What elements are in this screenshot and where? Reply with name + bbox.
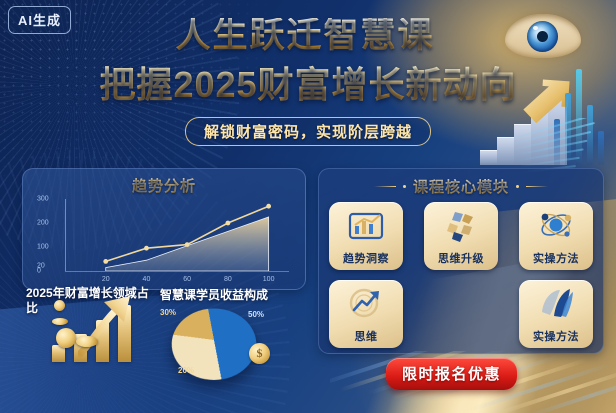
y-axis-line <box>65 199 66 271</box>
trend-analysis-card: 趋势分析 020100200300 20406080100 <box>22 168 306 290</box>
divider-left <box>374 186 396 188</box>
tagline: 解锁财富密码，实现阶层跨越 <box>185 117 431 146</box>
pie-label-0: 50% <box>248 310 264 319</box>
module-card-1[interactable]: 趋势洞察 <box>329 202 403 270</box>
earnings-composition-label: 智慧课学员收益构成 <box>160 286 268 303</box>
gold-coin-single-icon <box>52 318 68 325</box>
bar-chart-icon <box>329 208 403 242</box>
pie-label-1: 30% <box>160 308 176 317</box>
y-tick: 200 <box>37 220 49 227</box>
trend-line-svg <box>65 199 289 271</box>
x-tick: 40 <box>143 276 151 283</box>
module-grid: 趋势洞察思维升级实操方法思维实操方法 <box>329 202 593 344</box>
module-label: 思维 <box>355 328 378 344</box>
puzzle-shapes-icon <box>424 208 498 242</box>
y-tick: 300 <box>37 196 49 203</box>
x-tick: 60 <box>183 276 191 283</box>
gold-coin-float-icon <box>54 300 65 311</box>
cta-badge[interactable]: 限时报名优惠 <box>386 358 517 390</box>
trend-card-title: 趋势分析 <box>23 169 305 196</box>
dollar-coin-icon: $ <box>249 343 270 364</box>
module-card-4[interactable]: 思维 <box>329 280 403 348</box>
gold-coin-stack-icon <box>76 336 98 347</box>
module-label: 趋势洞察 <box>343 250 389 266</box>
core-modules-header: 课程核心模块 <box>319 169 603 197</box>
line-chart-arrow-icon <box>329 286 403 320</box>
dot-left <box>403 185 406 188</box>
module-label: 实操方法 <box>533 328 579 344</box>
page-subtitle-main: 把握2025财富增长新动向 <box>99 56 516 108</box>
core-modules-title: 课程核心模块 <box>413 176 509 197</box>
module-label: 实操方法 <box>533 250 579 266</box>
page-title: 人生跃迁智慧课 <box>175 18 440 55</box>
divider-right <box>526 186 548 188</box>
trend-chart: 020100200300 20406080100 <box>31 195 297 285</box>
core-modules-panel: 课程核心模块 趋势洞察思维升级实操方法思维实操方法 <box>318 168 604 354</box>
x-tick: 100 <box>263 276 275 283</box>
gold-coins-icon <box>56 328 76 348</box>
leaf-swoosh-icon <box>519 286 593 320</box>
x-axis-line <box>65 271 289 272</box>
x-tick: 80 <box>224 276 232 283</box>
poster-canvas: AI生成 人生跃迁智慧课 把握2025财富增长新动向 解锁财富密码，实现阶层跨越… <box>0 0 616 413</box>
module-card-5[interactable]: 实操方法 <box>519 280 593 348</box>
y-tick: 100 <box>37 244 49 251</box>
upward-arrow-icon <box>78 292 134 358</box>
light-streak <box>516 148 583 161</box>
dot-right <box>516 185 519 188</box>
headline-block: 人生跃迁智慧课 把握2025财富增长新动向 解锁财富密码，实现阶层跨越 <box>0 18 616 146</box>
x-tick: 20 <box>102 276 110 283</box>
y-tick: 20 <box>37 263 45 270</box>
module-card-2[interactable]: 思维升级 <box>424 202 498 270</box>
pie-label-2: 20% <box>178 366 194 375</box>
module-card-3[interactable]: 实操方法 <box>519 202 593 270</box>
atom-orbit-icon <box>519 208 593 242</box>
module-label: 思维升级 <box>438 250 484 266</box>
